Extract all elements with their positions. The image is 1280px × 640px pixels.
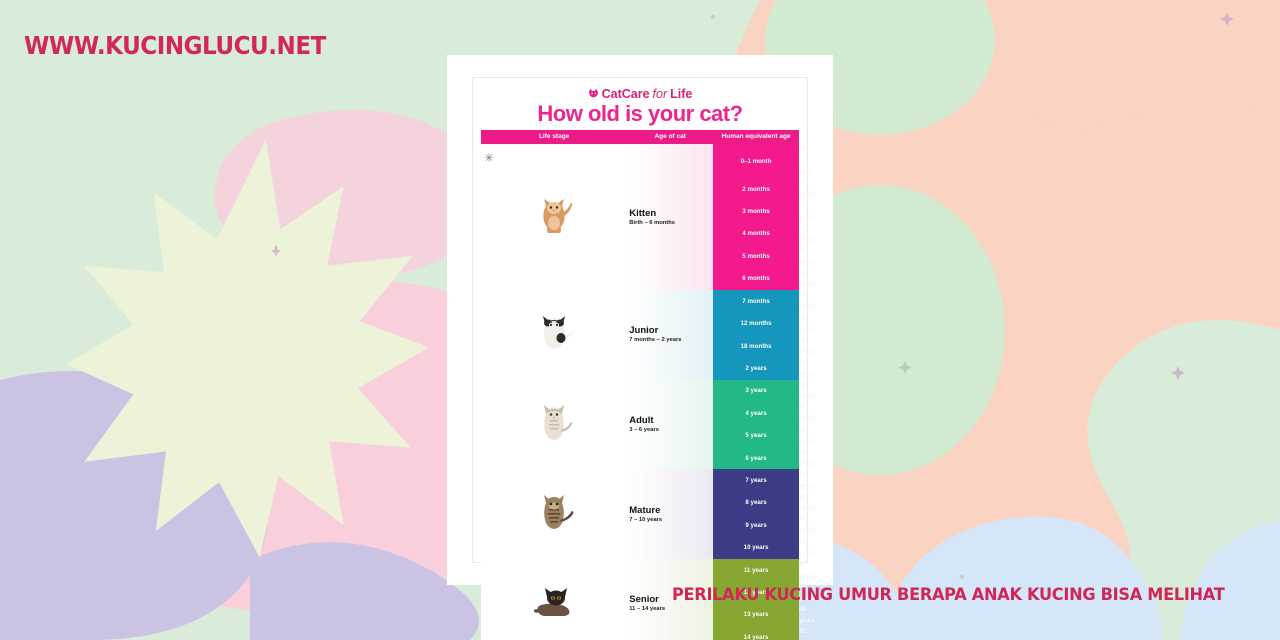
ginger-kitten-image (532, 195, 576, 235)
age-of-cat-cell: 7 years (713, 469, 799, 491)
age-of-cat-cell: 12 months (713, 313, 799, 335)
table-row: Junior7 months – 2 years7 months12 years (481, 290, 799, 312)
life-stage-name: Junior (629, 326, 713, 336)
table-row: Senior11 – 14 years11 years60 years (481, 559, 799, 581)
life-stage-name: Mature (629, 506, 713, 516)
age-of-cat-cell: 4 months (713, 223, 799, 245)
life-stage-range: 7 – 10 years (629, 517, 713, 523)
age-of-cat-cell: 10 years (713, 537, 799, 559)
age-of-cat-cell: 6 months (713, 268, 799, 290)
cat-photo-cell (481, 559, 627, 640)
age-chart-body: KittenBirth – 6 months0–1 month0–1 year2… (481, 144, 799, 640)
age-chart-table-wrap: Life stage Age of cat Human equivalent a… (481, 130, 799, 640)
dark-longhair-cat-image (532, 581, 576, 621)
life-stage-cell: KittenBirth – 6 months (627, 144, 713, 290)
age-of-cat-cell: 3 months (713, 200, 799, 222)
life-stage-cell: Adult3 – 6 years (627, 380, 713, 470)
table-row: Adult3 – 6 years3 years28 years (481, 380, 799, 402)
age-of-cat-cell: 13 years (713, 604, 799, 626)
life-stage-range: 3 – 6 years (629, 427, 713, 433)
brand-catcare: CatCare (602, 87, 650, 101)
cat-photo-cell (481, 144, 627, 290)
cream-tabby-cat-image (532, 402, 576, 442)
age-of-cat-cell: 8 years (713, 492, 799, 514)
age-of-cat-cell: 9 years (713, 514, 799, 536)
brand-for: for (653, 87, 668, 101)
star-decoration: ✳ (484, 151, 494, 165)
life-stage-range: 7 months – 2 years (629, 337, 713, 343)
cat-photo-cell (481, 290, 627, 380)
age-of-cat-cell: 6 years (713, 447, 799, 469)
age-of-cat-cell: 4 years (713, 402, 799, 424)
col-human-equivalent: Human equivalent age (713, 130, 799, 144)
col-life-stage: Life stage (481, 130, 627, 144)
poster-brandline: CatCareforLife (473, 78, 807, 100)
age-of-cat-cell: 14 years (713, 626, 799, 640)
bicolour-cat-image (532, 312, 576, 352)
cat-photo-cell (481, 380, 627, 470)
life-stage-name: Adult (629, 416, 713, 426)
age-of-cat-cell: 0–1 month (713, 144, 799, 178)
cat-head-icon (588, 88, 599, 99)
age-chart-table: Life stage Age of cat Human equivalent a… (481, 130, 799, 640)
catcareforlife-logo: CatCareforLife (588, 87, 693, 101)
age-of-cat-cell: 7 months (713, 290, 799, 312)
brown-tabby-cat-image (532, 492, 576, 532)
table-row: KittenBirth – 6 months0–1 month0–1 year (481, 144, 799, 178)
age-of-cat-cell: 3 years (713, 380, 799, 402)
life-stage-range: 11 – 14 years (629, 606, 713, 612)
life-stage-cell: Mature7 – 10 years (627, 469, 713, 559)
table-row: Mature7 – 10 years7 years44 years (481, 469, 799, 491)
poster-title: How old is your cat? (473, 101, 807, 127)
age-of-cat-cell: 5 years (713, 425, 799, 447)
poster-content: CatCareforLife How old is your cat? Life… (472, 77, 808, 563)
bottom-caption: PERILAKU KUCING UMUR BERAPA ANAK KUCING … (672, 585, 1224, 605)
age-of-cat-cell: 2 years (713, 357, 799, 379)
brand-life: Life (670, 87, 692, 101)
poster-card: CatCareforLife How old is your cat? Life… (447, 55, 833, 585)
site-watermark: WWW.KUCINGLUCU.NET (24, 31, 326, 60)
age-of-cat-cell: 11 years (713, 559, 799, 581)
table-header-row: Life stage Age of cat Human equivalent a… (481, 130, 799, 144)
age-of-cat-cell: 5 months (713, 245, 799, 267)
life-stage-cell: Junior7 months – 2 years (627, 290, 713, 380)
life-stage-range: Birth – 6 months (629, 220, 713, 226)
age-of-cat-cell: 18 months (713, 335, 799, 357)
life-stage-name: Kitten (629, 209, 713, 219)
cat-photo-cell (481, 469, 627, 559)
col-age-of-cat: Age of cat (627, 130, 713, 144)
age-of-cat-cell: 2 months (713, 178, 799, 200)
